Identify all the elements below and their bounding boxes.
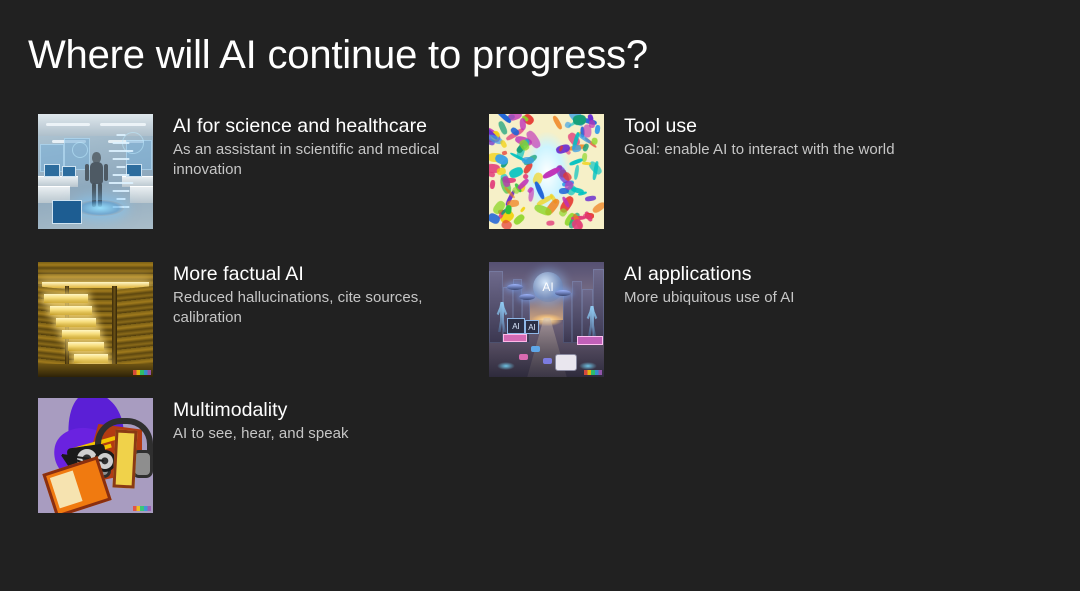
item-description: Goal: enable AI to interact with the wor… — [624, 140, 895, 160]
list-item-texts: AI for science and healthcare As an assi… — [173, 114, 473, 180]
city-sign-right-label: AI — [525, 320, 539, 334]
item-description: Reduced hallucinations, cite sources, ca… — [173, 288, 473, 328]
item-title: Multimodality — [173, 398, 349, 423]
list-item-texts: Tool use Goal: enable AI to interact wit… — [624, 114, 895, 160]
camera-headphones-books-illustration — [38, 398, 153, 513]
item-title: AI for science and healthcare — [173, 114, 473, 139]
city-sign-left-label: AI — [507, 318, 525, 334]
item-description: As an assistant in scientific and medica… — [173, 140, 473, 180]
abstract-colorful-brushstrokes-image — [489, 114, 604, 229]
list-item-multimodality: Multimodality AI to see, hear, and speak — [38, 398, 349, 513]
city-ai-bubble-label: AI — [533, 272, 563, 302]
slide: Where will AI continue to progress? — [0, 0, 1080, 591]
golden-library-bookshelves-image — [38, 262, 153, 377]
list-item-texts: Multimodality AI to see, hear, and speak — [173, 398, 349, 444]
content-grid: AI for science and healthcare As an assi… — [0, 0, 1080, 591]
list-item-texts: AI applications More ubiquitous use of A… — [624, 262, 795, 308]
item-title: More factual AI — [173, 262, 473, 287]
futuristic-ai-city-street-image: AI AI AI — [489, 262, 604, 377]
list-item-more-factual-ai: More factual AI Reduced hallucinations, … — [38, 262, 473, 377]
list-item-ai-applications: AI AI AI — [489, 262, 795, 377]
item-description: AI to see, hear, and speak — [173, 424, 349, 444]
item-title: Tool use — [624, 114, 895, 139]
list-item-tool-use: Tool use Goal: enable AI to interact wit… — [489, 114, 895, 229]
futuristic-lab-robot-dna-image — [38, 114, 153, 229]
list-item-ai-for-science-and-healthcare: AI for science and healthcare As an assi… — [38, 114, 473, 229]
item-title: AI applications — [624, 262, 795, 287]
item-description: More ubiquitous use of AI — [624, 288, 795, 308]
list-item-texts: More factual AI Reduced hallucinations, … — [173, 262, 473, 328]
